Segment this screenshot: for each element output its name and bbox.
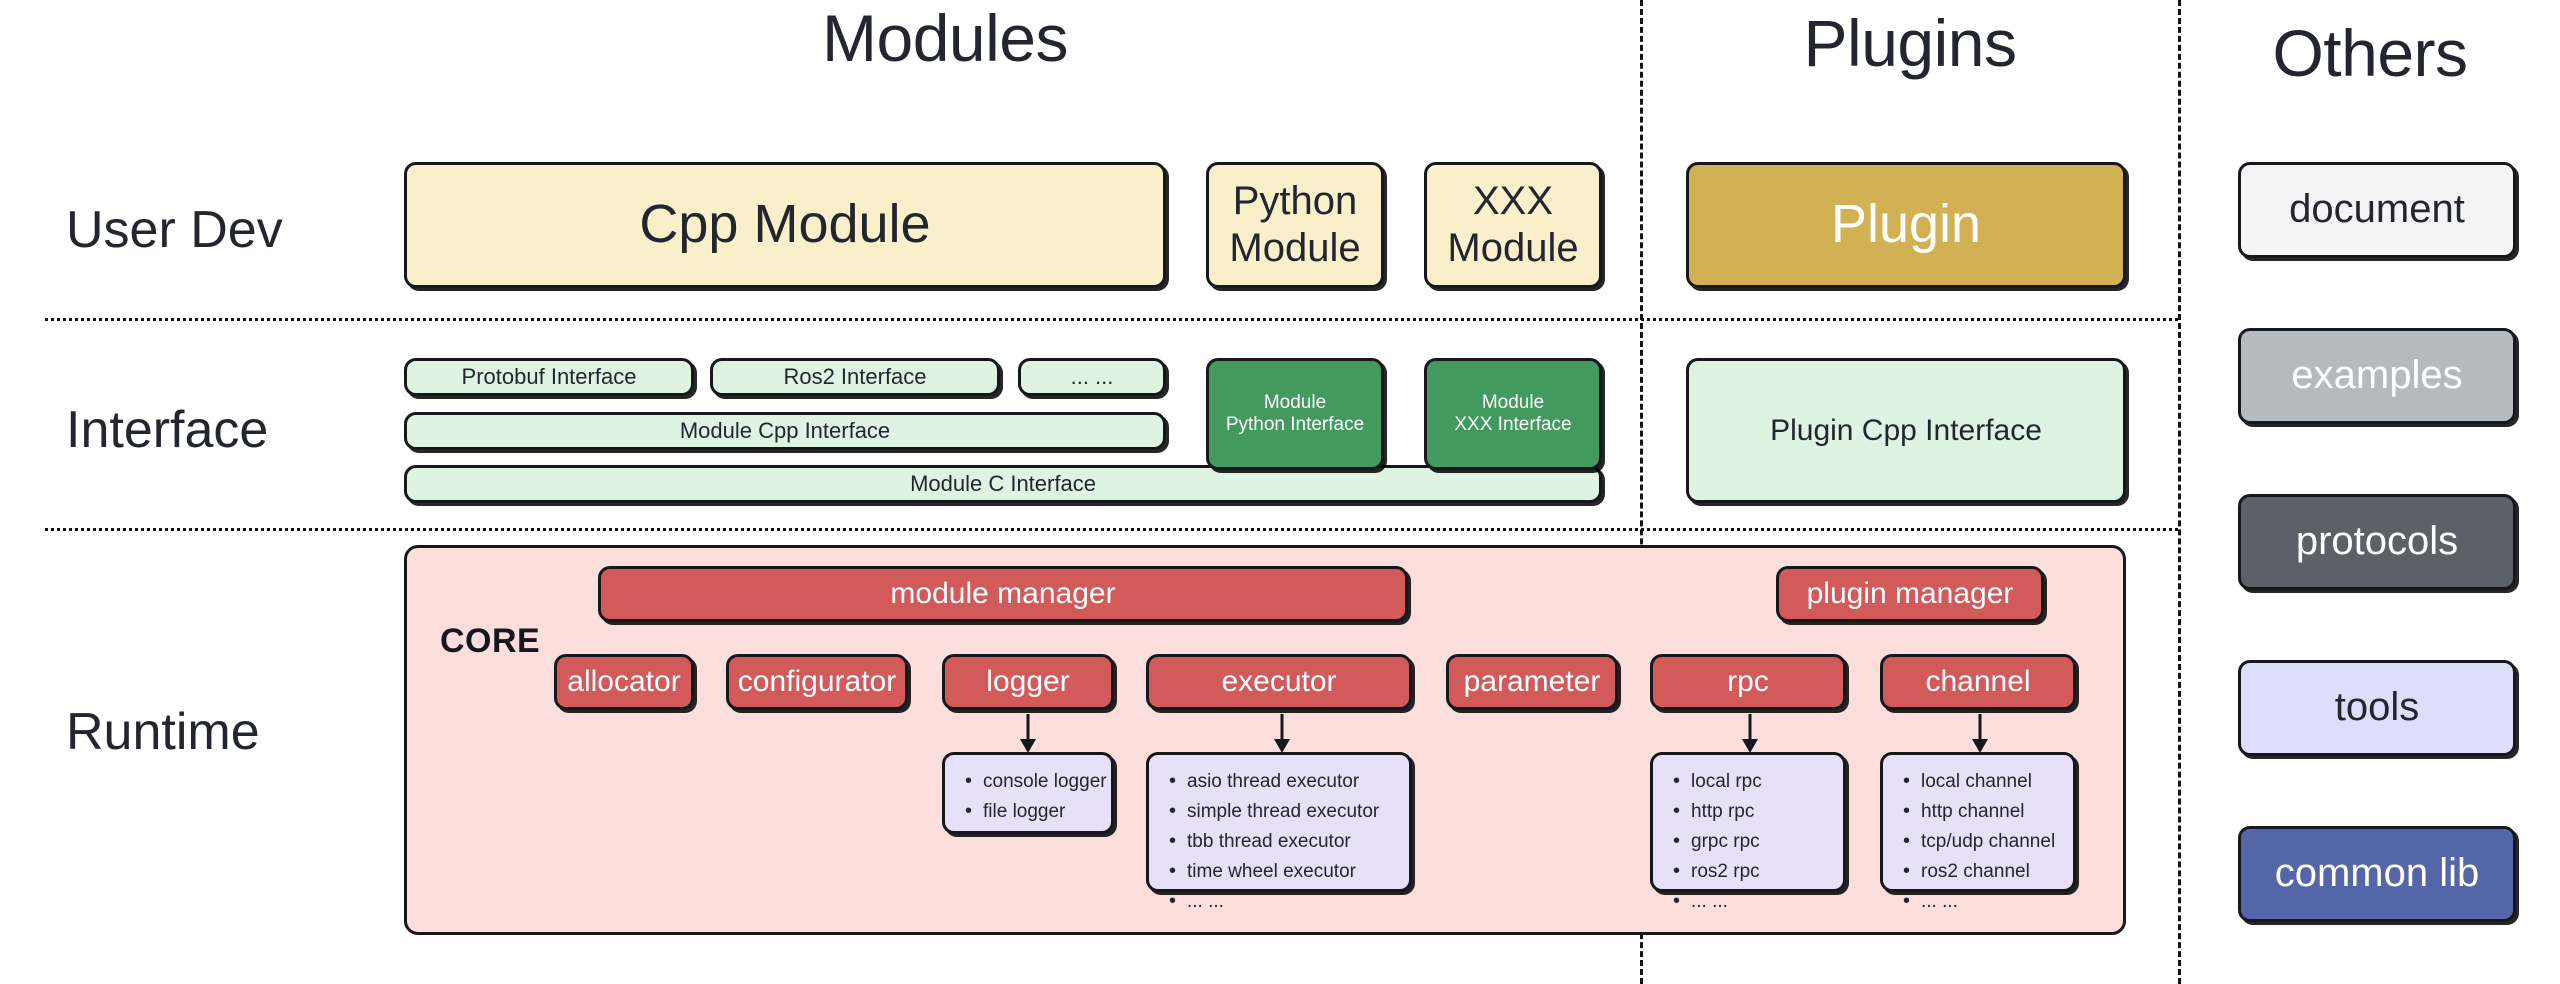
core-label: CORE [440,622,540,661]
list-item: local rpc [1691,767,1833,797]
list-item: grpc rpc [1691,827,1833,857]
box-module-python-interface[interactable]: Module Python Interface [1206,358,1384,470]
box-parameter[interactable]: parameter [1446,654,1618,710]
box-plugin-cpp-interface[interactable]: Plugin Cpp Interface [1686,358,2126,503]
list-item: local channel [1921,767,2063,797]
box-python-module-label-line2: Module [1229,225,1360,272]
architecture-diagram: Modules Plugins Others User Dev Interfac… [0,0,2560,984]
row-label-runtime: Runtime [66,702,260,762]
arrow-channel-down [1965,714,1995,754]
box-python-module[interactable]: Python Module [1206,162,1384,288]
box-rpc[interactable]: rpc [1650,654,1846,710]
box-configurator[interactable]: configurator [726,654,908,710]
box-others-tools[interactable]: tools [2238,660,2516,756]
arrow-logger-down [1013,714,1043,754]
column-title-plugins: Plugins [1710,5,2110,81]
arrow-executor-down [1267,714,1297,754]
executor-details-list: asio thread executor simple thread execu… [1165,767,1399,917]
list-item: tcp/udp channel [1921,827,2063,857]
column-title-modules: Modules [745,0,1145,76]
listbox-executor-details: asio thread executor simple thread execu… [1146,752,1412,892]
box-logger[interactable]: logger [942,654,1114,710]
column-title-others: Others [2245,15,2495,91]
box-plugin-manager[interactable]: plugin manager [1776,566,2044,622]
list-item: simple thread executor [1187,797,1399,827]
divider-userdev-interface [45,318,2178,321]
list-item: ... ... [1187,887,1399,917]
box-module-xxx-interface-line2: XXX Interface [1454,414,1571,436]
row-label-interface: Interface [66,400,268,460]
list-item: ros2 rpc [1691,857,1833,887]
box-xxx-module-label-line2: Module [1447,225,1578,272]
box-cpp-module[interactable]: Cpp Module [404,162,1166,288]
box-xxx-module-label-line1: XXX [1473,178,1553,225]
list-item: ... ... [1691,887,1833,917]
box-channel[interactable]: channel [1880,654,2076,710]
list-item: console logger [983,767,1101,797]
list-item: asio thread executor [1187,767,1399,797]
box-executor[interactable]: executor [1146,654,1412,710]
box-others-document[interactable]: document [2238,162,2516,258]
logger-details-list: console logger file logger [961,767,1101,827]
box-allocator[interactable]: allocator [554,654,694,710]
divider-interface-runtime [45,528,2178,531]
box-ros2-interface[interactable]: Ros2 Interface [710,358,1000,396]
list-item: tbb thread executor [1187,827,1399,857]
box-module-xxx-interface-line1: Module [1482,392,1544,414]
channel-details-list: local channel http channel tcp/udp chann… [1899,767,2063,917]
list-item: time wheel executor [1187,857,1399,887]
box-others-protocols[interactable]: protocols [2238,494,2516,590]
box-others-common-lib[interactable]: common lib [2238,826,2516,922]
list-item: http channel [1921,797,2063,827]
listbox-rpc-details: local rpc http rpc grpc rpc ros2 rpc ...… [1650,752,1846,892]
box-other-interface[interactable]: ... ... [1018,358,1166,396]
box-python-module-label-line1: Python [1233,178,1358,225]
box-module-c-interface[interactable]: Module C Interface [404,465,1602,503]
box-xxx-module[interactable]: XXX Module [1424,162,1602,288]
divider-plugins-others [2178,0,2181,984]
list-item: ... ... [1921,887,2063,917]
arrow-rpc-down [1735,714,1765,754]
row-label-user-dev: User Dev [66,200,283,260]
list-item: http rpc [1691,797,1833,827]
list-item: ros2 channel [1921,857,2063,887]
box-plugin[interactable]: Plugin [1686,162,2126,288]
box-module-xxx-interface[interactable]: Module XXX Interface [1424,358,1602,470]
box-module-python-interface-line1: Module [1264,392,1326,414]
listbox-logger-details: console logger file logger [942,752,1114,834]
listbox-channel-details: local channel http channel tcp/udp chann… [1880,752,2076,892]
box-module-manager[interactable]: module manager [598,566,1408,622]
box-module-cpp-interface[interactable]: Module Cpp Interface [404,412,1166,450]
box-module-python-interface-line2: Python Interface [1226,414,1364,436]
list-item: file logger [983,797,1101,827]
rpc-details-list: local rpc http rpc grpc rpc ros2 rpc ...… [1669,767,1833,917]
box-others-examples[interactable]: examples [2238,328,2516,424]
box-protobuf-interface[interactable]: Protobuf Interface [404,358,694,396]
